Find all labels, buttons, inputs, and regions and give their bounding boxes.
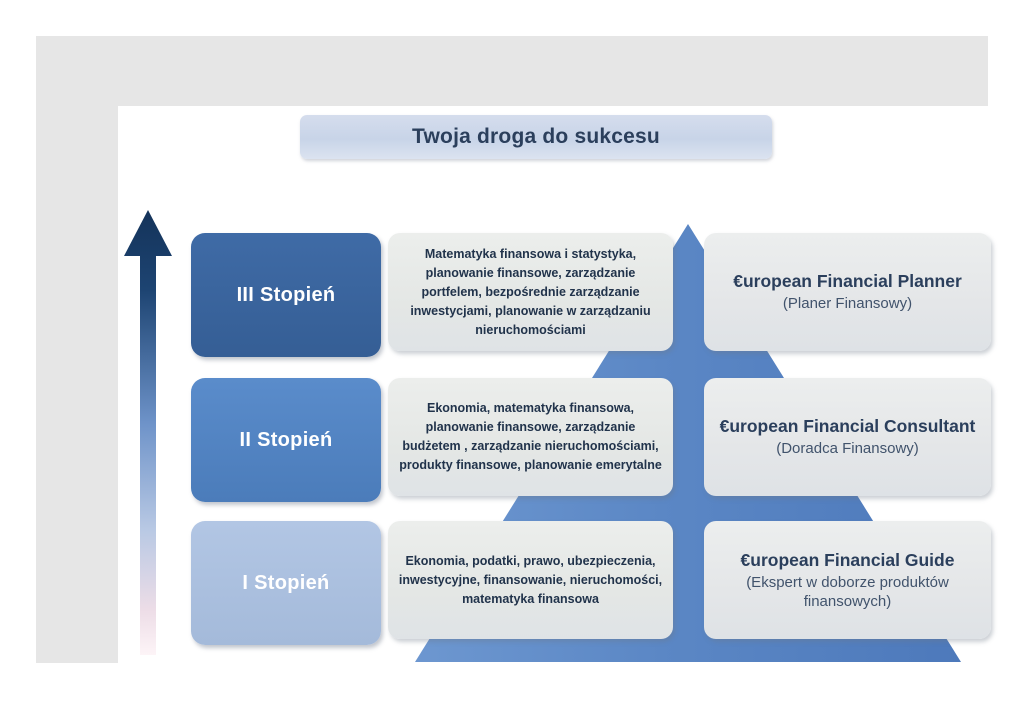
qualification-title-2: €uropean Financial Consultant	[720, 415, 976, 437]
diagram-title-banner: Twoja droga do sukcesu	[300, 115, 772, 159]
level-badge-1[interactable]: I Stopień	[191, 521, 381, 645]
level-badge-label-2: II Stopień	[240, 429, 333, 452]
level-description-1: Ekonomia, podatki, prawo, ubezpieczenia,…	[388, 521, 673, 639]
qualification-subtitle-1: (Ekspert w doborze produktów finansowych…	[714, 574, 981, 612]
qualification-card-3[interactable]: €uropean Financial Planner (Planer Finan…	[704, 233, 991, 351]
level-row-3: III Stopień Matematyka finansowa i staty…	[118, 233, 1003, 360]
outer-frame: Twoja droga do sukcesu III Stopień Matem…	[36, 36, 988, 663]
level-row-2: II Stopień Ekonomia, matematyka finansow…	[118, 378, 1003, 505]
level-description-text-2: Ekonomia, matematyka finansowa, planowan…	[398, 399, 663, 475]
qualification-card-1[interactable]: €uropean Financial Guide (Ekspert w dobo…	[704, 521, 991, 639]
level-badge-label-3: III Stopień	[237, 284, 336, 307]
level-row-1: I Stopień Ekonomia, podatki, prawo, ubez…	[118, 521, 1003, 648]
level-badge-label-1: I Stopień	[242, 572, 329, 595]
qualification-subtitle-3: (Planer Finansowy)	[783, 295, 912, 314]
level-badge-2[interactable]: II Stopień	[191, 378, 381, 502]
level-badge-3[interactable]: III Stopień	[191, 233, 381, 357]
level-description-2: Ekonomia, matematyka finansowa, planowan…	[388, 378, 673, 496]
level-description-text-1: Ekonomia, podatki, prawo, ubezpieczenia,…	[398, 552, 663, 609]
diagram-canvas: Twoja droga do sukcesu III Stopień Matem…	[118, 106, 1003, 666]
page-title: Twoja droga do sukcesu	[412, 125, 660, 149]
qualification-title-3: €uropean Financial Planner	[733, 270, 962, 292]
level-description-3: Matematyka finansowa i statystyka, plano…	[388, 233, 673, 351]
level-description-text-3: Matematyka finansowa i statystyka, plano…	[398, 245, 663, 340]
qualification-card-2[interactable]: €uropean Financial Consultant (Doradca F…	[704, 378, 991, 496]
qualification-subtitle-2: (Doradca Finansowy)	[776, 440, 919, 459]
qualification-title-1: €uropean Financial Guide	[741, 549, 955, 571]
